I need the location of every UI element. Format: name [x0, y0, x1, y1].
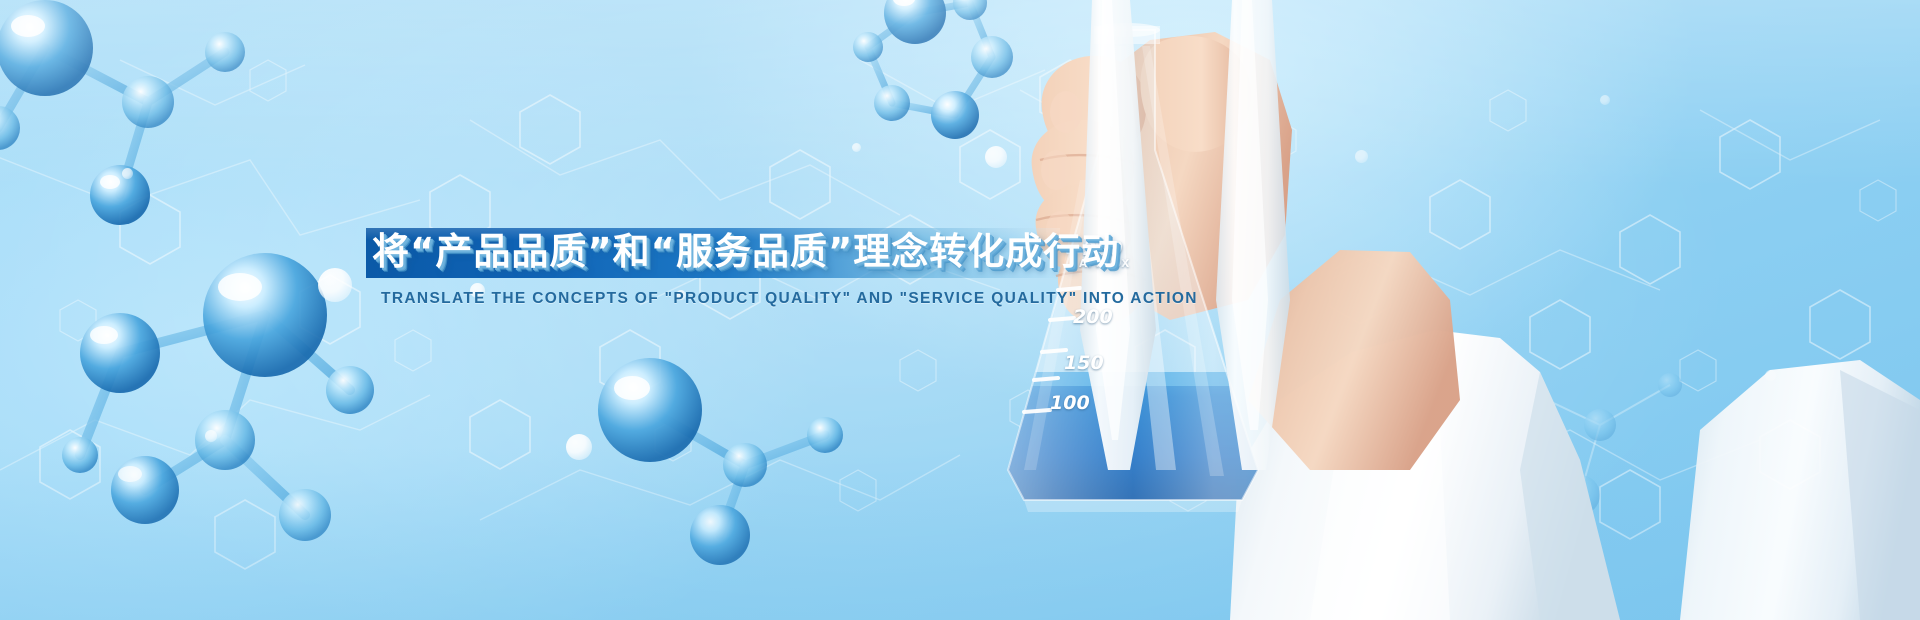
hero-banner: 250 APPROX 200 150 100 将“产品品质”和“服务品质”理念转… [0, 0, 1920, 620]
hand-holding-flask-photo: 250 APPROX 200 150 100 [980, 0, 1920, 620]
page-title: 将“产品品质”和“服务品质”理念转化成行动 [372, 226, 1119, 278]
headline-block: 将“产品品质”和“服务品质”理念转化成行动 [0, 228, 1060, 280]
page-subtitle: TRANSLATE THE CONCEPTS OF "PRODUCT QUALI… [381, 290, 1198, 308]
